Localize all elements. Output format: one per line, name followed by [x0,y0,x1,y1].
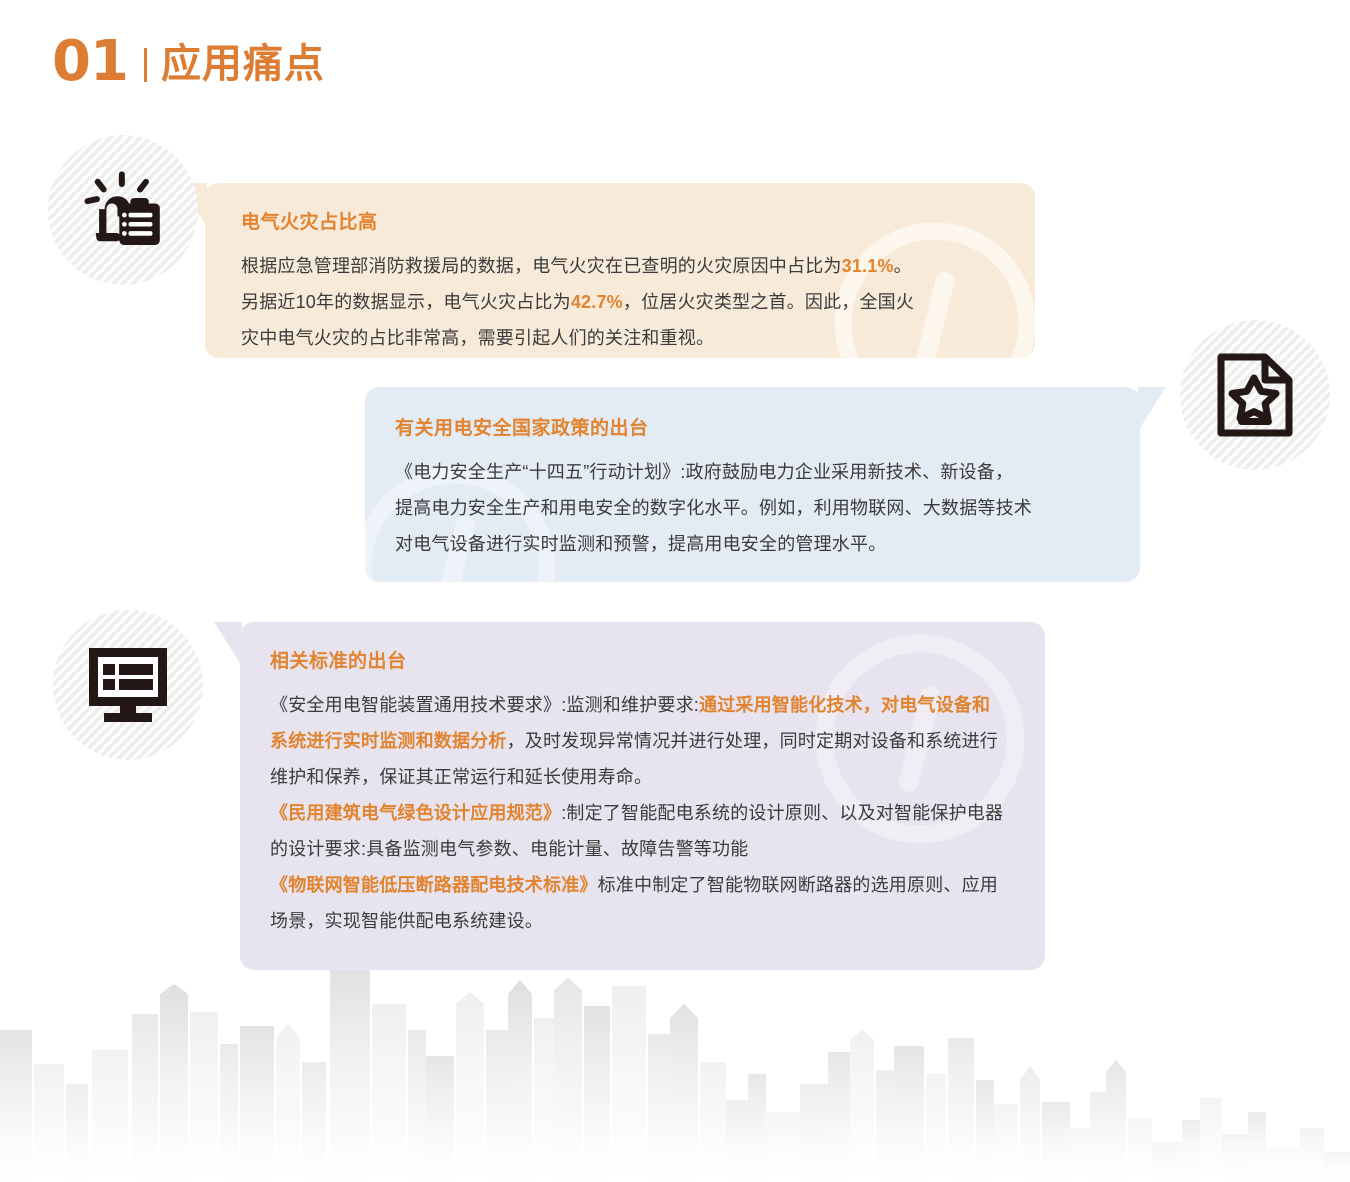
card-related-standards: 相关标准的出台 《安全用电智能装置通用技术要求》:监测和维护要求:通过采用智能化… [240,622,1045,970]
highlighted-text: 《民用建筑电气绿色设计应用规范》 [270,803,561,823]
card-content: 有关用电安全国家政策的出台 《电力安全生产“十四五”行动计划》:政府鼓励电力企业… [365,387,1140,582]
card-content: 相关标准的出台 《安全用电智能装置通用技术要求》:监测和维护要求:通过采用智能化… [240,622,1045,965]
card-content: 电气火灾占比高 根据应急管理部消防救援局的数据，电气火灾在已查明的火灾原因中占比… [205,183,1035,358]
body-text: 的设计要求:具备监测电气参数、电能计量、故障告警等功能 [270,839,748,859]
card-title: 有关用电安全国家政策的出台 [395,417,1106,442]
body-line: 提高电力安全生产和用电安全的数字化水平。例如，利用物联网、大数据等技术 [395,490,1106,526]
card-title: 电气火灾占比高 [241,211,999,236]
body-line: 《安全用电智能装置通用技术要求》:监测和维护要求:通过采用智能化技术，对电气设备… [270,687,1015,723]
body-text: 另据近10年的数据显示，电气火灾占比为 [241,292,571,312]
header-divider [144,48,147,82]
card-body: 《电力安全生产“十四五”行动计划》:政府鼓励电力企业采用新技术、新设备，提高电力… [395,454,1106,562]
body-text: 《安全用电智能装置通用技术要求》:监测和维护要求: [270,695,699,715]
monitor-screen-icon [86,645,170,725]
highlighted-text: 系统进行实时监测和数据分析 [270,731,507,751]
certificate-document-icon [1215,351,1295,439]
body-text: 提高电力安全生产和用电安全的数字化水平。例如，利用物联网、大数据等技术 [395,498,1032,518]
page-title: 应用痛点 [161,44,325,84]
body-line: 场景，实现智能供配电系统建设。 [270,903,1015,939]
body-text: 《电力安全生产“十四五”行动计划》:政府鼓励电力企业采用新技术、新设备， [395,462,1013,482]
body-line: 根据应急管理部消防救援局的数据，电气火灾在已查明的火灾原因中占比为31.1%。 [241,248,999,284]
body-text: ，位居火灾类型之首。因此，全国火 [623,292,914,312]
highlighted-text: 42.7% [571,292,623,312]
card-electrical-fire-ratio: 电气火灾占比高 根据应急管理部消防救援局的数据，电气火灾在已查明的火灾原因中占比… [205,183,1035,358]
body-text: ，及时发现异常情况并进行处理，同时定期对设备和系统进行 [507,731,998,751]
body-text: 维护和保养，保证其正常运行和延长使用寿命。 [270,767,652,787]
highlighted-text: 31.1% [842,256,894,276]
body-text: :制定了智能配电系统的设计原则、以及对智能保护电器 [561,803,1003,823]
card-title: 相关标准的出台 [270,650,1015,675]
body-line: 灾中电气火灾的占比非常高，需要引起人们的关注和重视。 [241,320,999,356]
body-line: 《物联网智能低压断路器配电技术标准》标准中制定了智能物联网断路器的选用原则、应用 [270,867,1015,903]
body-line: 《电力安全生产“十四五”行动计划》:政府鼓励电力企业采用新技术、新设备， [395,454,1106,490]
body-text: 场景，实现智能供配电系统建设。 [270,911,543,931]
highlighted-text: 通过采用智能化技术，对电气设备和 [699,695,990,715]
card-body: 《安全用电智能装置通用技术要求》:监测和维护要求:通过采用智能化技术，对电气设备… [270,687,1015,939]
body-text: 标准中制定了智能物联网断路器的选用原则、应用 [598,875,998,895]
highlighted-text: 《物联网智能低压断路器配电技术标准》 [270,875,598,895]
body-text: 根据应急管理部消防救援局的数据，电气火灾在已查明的火灾原因中占比为 [241,256,842,276]
speech-tail [214,622,242,666]
body-line: 系统进行实时监测和数据分析，及时发现异常情况并进行处理，同时定期对设备和系统进行 [270,723,1015,759]
card-body: 根据应急管理部消防救援局的数据，电气火灾在已查明的火灾原因中占比为31.1%。另… [241,248,999,356]
badge-alarm-clipboard [48,135,198,285]
body-line: 维护和保养，保证其正常运行和延长使用寿命。 [270,759,1015,795]
speech-tail [1138,387,1166,431]
page-header: 01 应用痛点 [52,34,325,90]
card-national-policy: 有关用电安全国家政策的出台 《电力安全生产“十四五”行动计划》:政府鼓励电力企业… [365,387,1140,582]
slide-page: 01 应用痛点 电气火灾占比高 根据应急管理部消防救援局的数据，电气火灾在已查明… [0,0,1350,1182]
body-text: 灾中电气火灾的占比非常高，需要引起人们的关注和重视。 [241,328,714,348]
section-number: 01 [52,34,128,90]
badge-monitor-screen [53,610,203,760]
body-text: 。 [894,256,912,276]
badge-certificate-document [1180,320,1330,470]
alarm-clipboard-icon [77,164,169,256]
body-text: 对电气设备进行实时监测和预警，提高用电安全的管理水平。 [395,534,886,554]
body-line: 另据近10年的数据显示，电气火灾占比为42.7%，位居火灾类型之首。因此，全国火 [241,284,999,320]
body-line: 对电气设备进行实时监测和预警，提高用电安全的管理水平。 [395,526,1106,562]
body-line: 《民用建筑电气绿色设计应用规范》:制定了智能配电系统的设计原则、以及对智能保护电… [270,795,1015,831]
city-skyline-silhouette [0,952,1350,1182]
body-line: 的设计要求:具备监测电气参数、电能计量、故障告警等功能 [270,831,1015,867]
